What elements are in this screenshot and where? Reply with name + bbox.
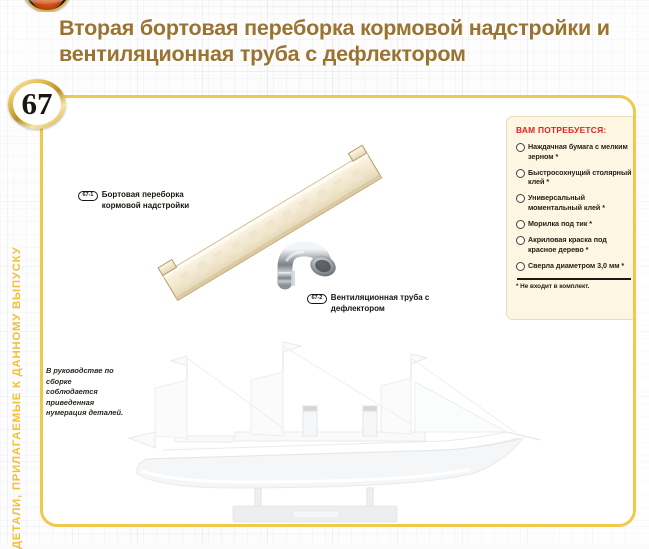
materials-item-label: Наждачная бумага с мелким зерном *	[528, 142, 632, 161]
content-frame: 67-1 Бортовая переборка кормовой надстро…	[40, 95, 636, 527]
part-callout-67-2: 67-2 Вентиляционная труба с дефлектором	[307, 293, 442, 315]
materials-item-label: Морилка под тик *	[528, 219, 592, 229]
part-label: Вентиляционная труба с дефлектором	[331, 293, 442, 315]
materials-panel: ВАМ ПОТРЕБУЕТСЯ: Наждачная бумага с мелк…	[506, 116, 633, 320]
ship-model-watermark-icon	[115, 328, 545, 524]
numbering-note: В руководстве по сборке соблюдается прив…	[46, 366, 124, 419]
magazine-emblem-icon	[22, 0, 70, 12]
part-badge: 67-1	[78, 191, 98, 201]
checkbox-circle-icon[interactable]	[516, 262, 525, 271]
materials-item[interactable]: Наждачная бумага с мелким зерном *	[516, 142, 632, 161]
divider	[517, 278, 631, 280]
materials-item-label: Сверла диаметром 3,0 мм *	[528, 261, 624, 271]
materials-item[interactable]: Акриловая краска под красное дерево *	[516, 235, 632, 254]
materials-item[interactable]: Сверла диаметром 3,0 мм *	[516, 261, 632, 271]
materials-header: ВАМ ПОТРЕБУЕТСЯ:	[516, 125, 632, 135]
page-title: Вторая бортовая переборка кормовой надст…	[59, 16, 639, 66]
materials-footnote: * Не входит в комплект.	[516, 283, 632, 290]
checkbox-circle-icon[interactable]	[516, 143, 525, 152]
materials-item-label: Быстросохнущий столярный клей *	[528, 168, 632, 187]
materials-item[interactable]: Морилка под тик *	[516, 219, 632, 229]
materials-item[interactable]: Быстросохнущий столярный клей *	[516, 168, 632, 187]
page-number-badge: 67	[8, 79, 66, 129]
materials-item[interactable]: Универсальный моментальный клей *	[516, 193, 632, 212]
chrome-vent-pipe-part-icon	[271, 238, 339, 290]
materials-item-label: Акриловая краска под красное дерево *	[528, 235, 632, 254]
checkbox-circle-icon[interactable]	[516, 194, 525, 203]
part-callout-67-1: 67-1 Бортовая переборка кормовой надстро…	[78, 190, 203, 212]
part-label: Бортовая переборка кормовой надстройки	[102, 190, 203, 212]
part-badge: 67-2	[307, 294, 327, 304]
materials-item-label: Универсальный моментальный клей *	[528, 193, 632, 212]
checkbox-circle-icon[interactable]	[516, 169, 525, 178]
checkbox-circle-icon[interactable]	[516, 236, 525, 245]
page-number: 67	[8, 79, 66, 129]
checkbox-circle-icon[interactable]	[516, 220, 525, 229]
